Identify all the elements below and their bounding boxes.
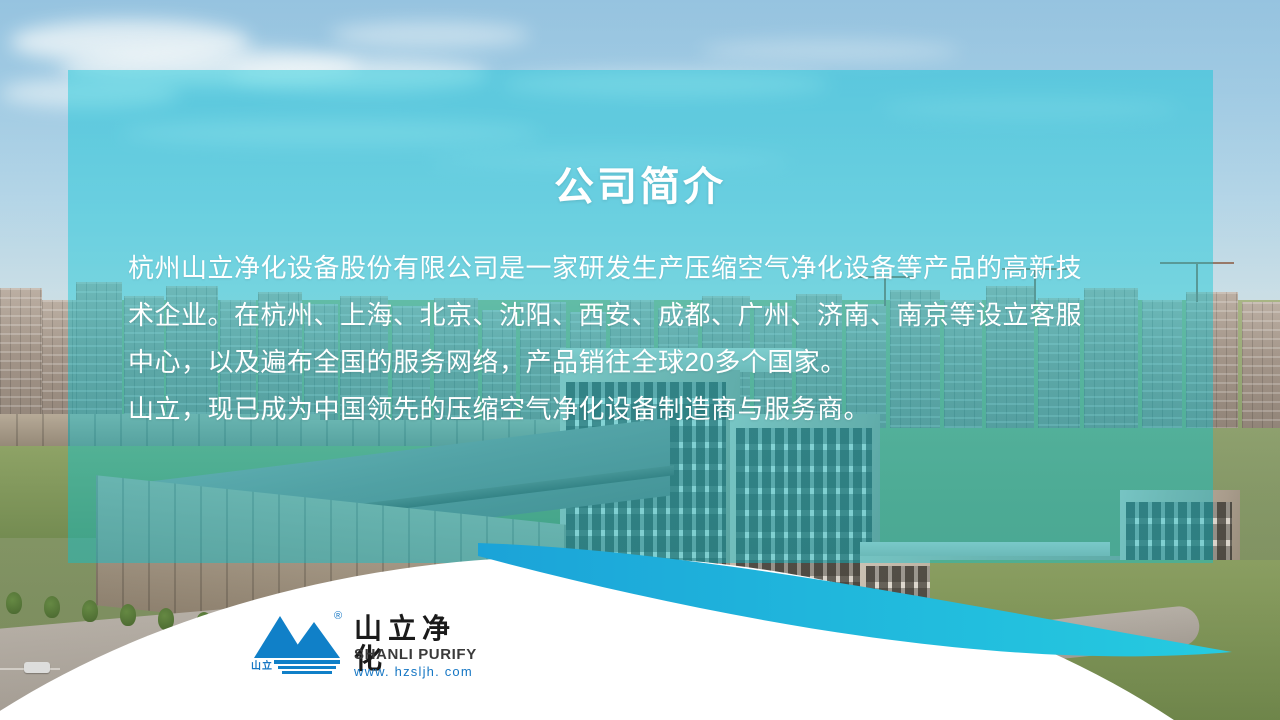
- intro-line: 中心，以及遍布全国的服务网络，产品销往全球20多个国家。: [128, 339, 1128, 386]
- logo[interactable]: ® 山立 山立净化 SHANLI PURIFY www. hzsljh. com: [250, 608, 480, 682]
- registered-trademark-icon: ®: [334, 610, 342, 622]
- logo-company-name-en: SHANLI PURIFY: [354, 646, 477, 663]
- intro-line: 术企业。在杭州、上海、北京、沈阳、西安、成都、广州、济南、南京等设立客服: [128, 292, 1128, 339]
- logo-website-url[interactable]: www. hzsljh. com: [354, 664, 473, 679]
- logo-mark-label: 山立: [251, 657, 273, 672]
- page-title: 公司简介: [0, 154, 1280, 212]
- intro-line: 山立，现已成为中国领先的压缩空气净化设备制造商与服务商。: [128, 386, 1128, 433]
- intro-line: 杭州山立净化设备股份有限公司是一家研发生产压缩空气净化设备等产品的高新技: [128, 245, 1128, 292]
- company-intro-text: 杭州山立净化设备股份有限公司是一家研发生产压缩空气净化设备等产品的高新技 术企业…: [128, 245, 1128, 433]
- slide-canvas: 公司简介 杭州山立净化设备股份有限公司是一家研发生产压缩空气净化设备等产品的高新…: [0, 0, 1280, 720]
